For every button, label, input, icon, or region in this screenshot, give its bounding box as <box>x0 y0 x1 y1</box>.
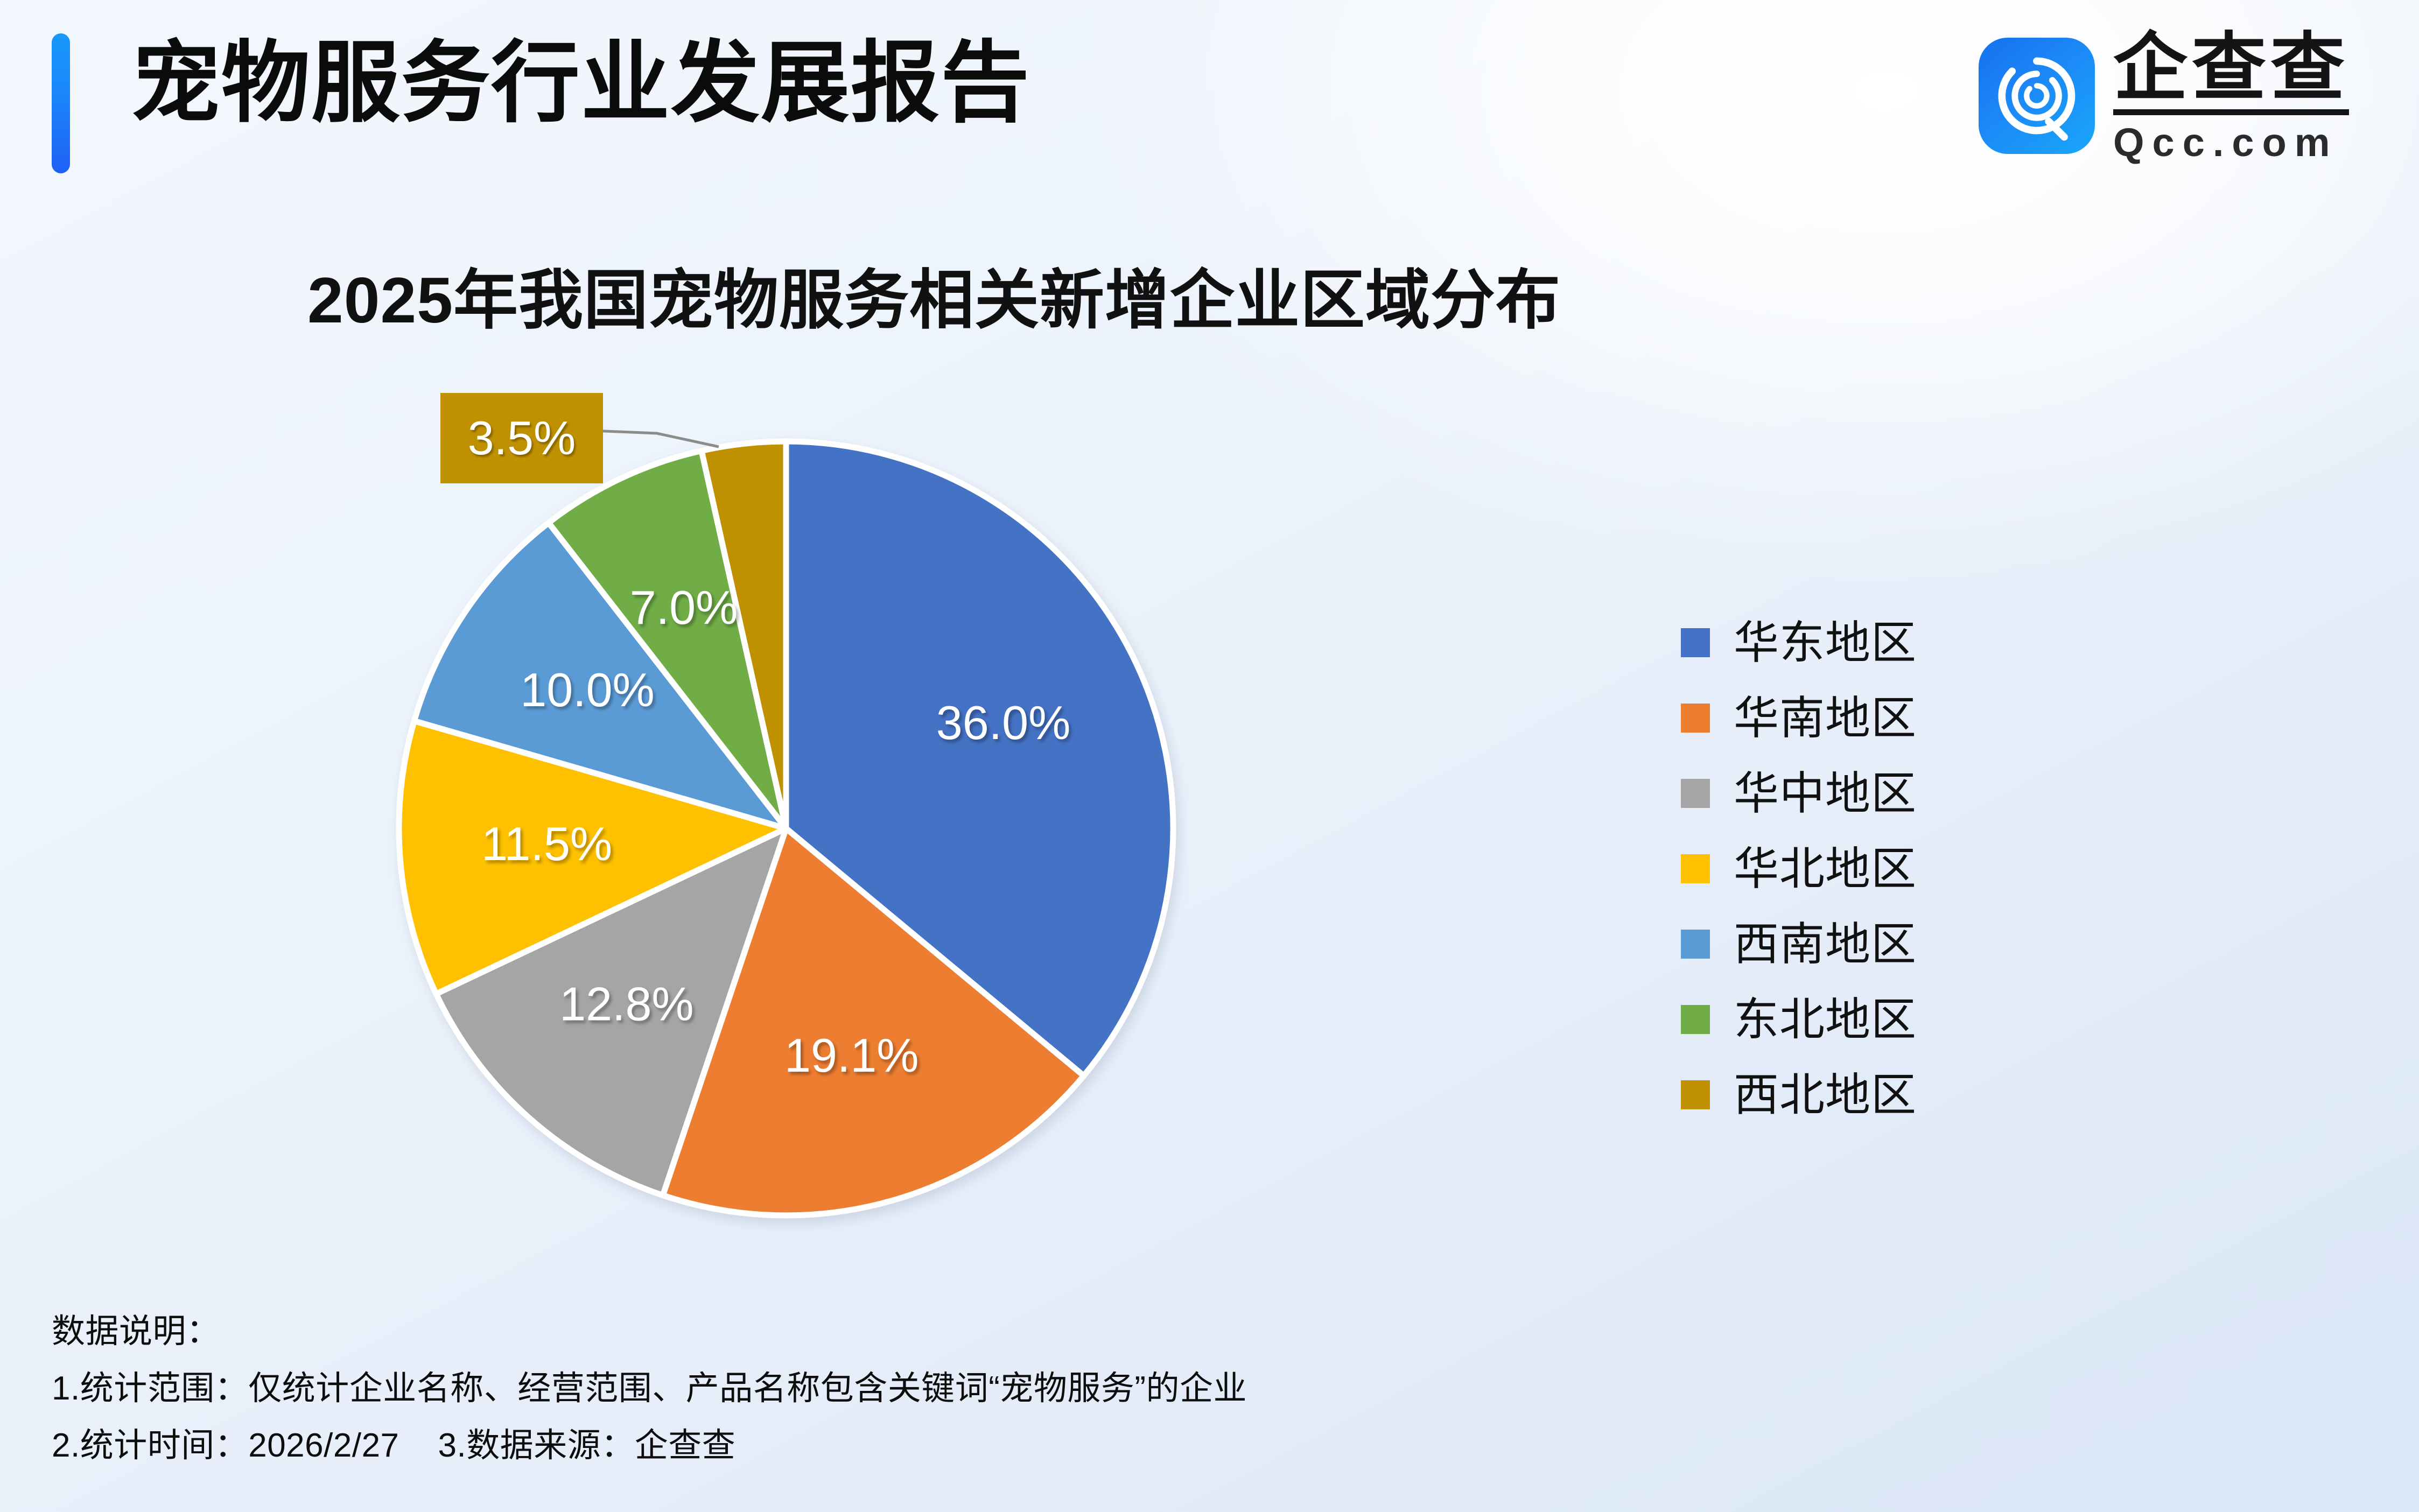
legend-item[interactable]: 西北地区 <box>1681 1057 1917 1133</box>
title-accent-bar <box>52 33 70 173</box>
notes-heading: 数据说明： <box>52 1315 2259 1348</box>
legend-color-swatch <box>1681 704 1710 733</box>
page-title: 宠物服务行业发展报告 <box>131 39 1030 128</box>
notes-line-1: 1.统计范围：仅统计企业名称、经营范围、产品名称包含关键词“宠物服务”的企业 <box>52 1372 2259 1405</box>
legend-item[interactable]: 东北地区 <box>1681 982 1917 1057</box>
legend-item-label: 西南地区 <box>1734 922 1917 967</box>
legend-color-swatch <box>1681 854 1710 883</box>
chart-title: 2025年我国宠物服务相关新增企业区域分布 <box>0 248 1868 341</box>
pie-slice-label: 10.0% <box>520 663 655 716</box>
legend-color-swatch <box>1681 930 1710 959</box>
pie-chart: 36.0%19.1%12.8%11.5%10.0%7.0% <box>395 437 1177 1220</box>
legend-item[interactable]: 华中地区 <box>1681 756 1917 831</box>
legend-color-swatch <box>1681 1080 1710 1109</box>
legend-item[interactable]: 华北地区 <box>1681 831 1917 906</box>
legend-item[interactable]: 西南地区 <box>1681 906 1917 982</box>
legend-item-label: 华东地区 <box>1734 620 1917 665</box>
notes-line-2: 2.统计时间：2026/2/273.数据来源：企查查 <box>52 1429 2259 1462</box>
legend-item-label: 华北地区 <box>1734 846 1917 891</box>
qcc-spiral-q-icon <box>1979 38 2095 154</box>
legend-item-label: 华中地区 <box>1734 771 1917 816</box>
legend-item-label: 西北地区 <box>1734 1072 1917 1117</box>
page-header: 宠物服务行业发展报告 企查查 Qcc.com <box>0 0 2419 205</box>
report-page: 宠物服务行业发展报告 企查查 Qcc.com 2025年我国宠物服务相关新增企业… <box>0 0 2419 1512</box>
legend-color-swatch <box>1681 628 1710 657</box>
pie-slice-label: 7.0% <box>630 581 738 634</box>
logo-domain: Qcc.com <box>2113 118 2349 163</box>
logo-wordmark: 企查查 Qcc.com <box>2113 29 2349 163</box>
pie-slice-label: 36.0% <box>936 696 1071 749</box>
legend-item[interactable]: 华东地区 <box>1681 605 1917 680</box>
chart-legend: 华东地区华南地区华中地区华北地区西南地区东北地区西北地区 <box>1681 605 1917 1133</box>
pie-chart-svg: 36.0%19.1%12.8%11.5%10.0%7.0% <box>395 437 1177 1220</box>
legend-color-swatch <box>1681 1005 1710 1034</box>
pie-slice-label: 11.5% <box>481 817 612 870</box>
legend-item-label: 东北地区 <box>1734 997 1917 1042</box>
logo-cn-name: 企查查 <box>2113 29 2349 115</box>
legend-item-label: 华南地区 <box>1734 695 1917 741</box>
data-notes: 数据说明： 1.统计范围：仅统计企业名称、经营范围、产品名称包含关键词“宠物服务… <box>52 1315 2259 1462</box>
legend-color-swatch <box>1681 779 1710 808</box>
callout-3-5-percent: 3.5% <box>440 393 603 483</box>
legend-item[interactable]: 华南地区 <box>1681 680 1917 756</box>
pie-slice-label: 19.1% <box>784 1029 919 1082</box>
pie-slice-label: 12.8% <box>559 977 694 1030</box>
notes-stat-time: 2.统计时间：2026/2/27 <box>52 1427 399 1464</box>
qcc-logo[interactable]: 企查查 Qcc.com <box>1979 29 2349 163</box>
callout-label: 3.5% <box>468 414 576 462</box>
notes-source: 3.数据来源：企查查 <box>438 1427 736 1464</box>
